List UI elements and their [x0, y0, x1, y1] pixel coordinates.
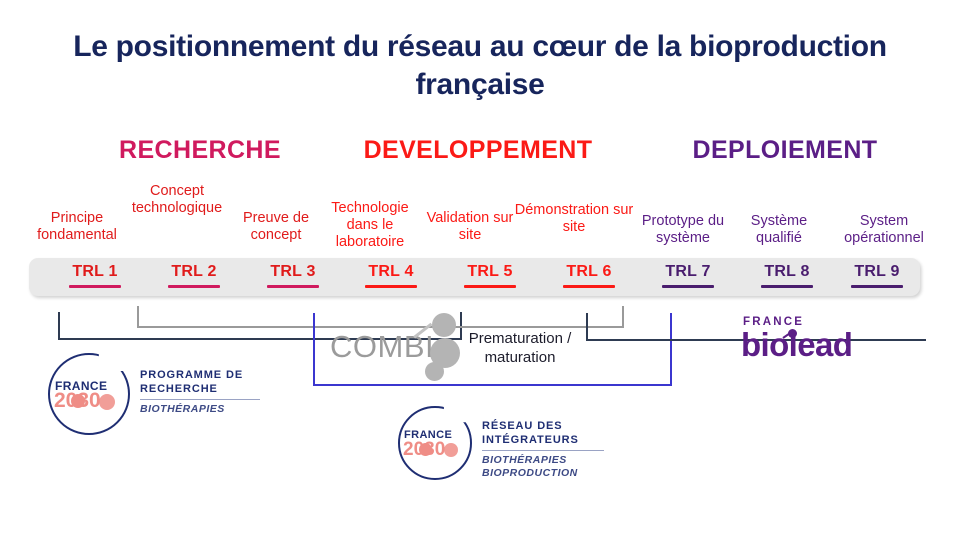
biolead-node-icon [788, 329, 797, 338]
stage-header-developpement: DEVELOPPEMENT [352, 136, 604, 165]
france2030-mark-icon: FRANCE 2030 [398, 406, 472, 480]
combine-logo: COMBI [330, 312, 470, 384]
trl-cell-9[interactable]: TRL 9 [829, 258, 925, 288]
trl-cell-3[interactable]: TRL 3 [245, 258, 341, 288]
trl-code-5: TRL 5 [442, 258, 538, 283]
reseau-integrateurs-title: RÉSEAU DES INTÉGRATEURS [482, 420, 604, 447]
prematuration-label: Prematuration / maturation [450, 329, 590, 367]
trl-underline-6 [563, 285, 615, 288]
trl-code-2: TRL 2 [146, 258, 242, 283]
trl-underline-1 [69, 285, 121, 288]
slide-canvas: Le positionnement du réseau au cœur de l… [0, 0, 960, 540]
combine-node-bottom-icon [425, 362, 444, 381]
page-title: Le positionnement du réseau au cœur de l… [0, 28, 960, 104]
trl-cell-2[interactable]: TRL 2 [146, 258, 242, 288]
trl-desc-2: Concept technologique [119, 183, 235, 217]
trl-underline-3 [267, 285, 319, 288]
logo-divider [482, 450, 604, 451]
programme-recherche-title: PROGRAMME DE RECHERCHE [140, 369, 260, 396]
trl-desc-9: System opérationnel [824, 213, 944, 247]
trl-code-7: TRL 7 [640, 258, 736, 283]
trl-cell-7[interactable]: TRL 7 [640, 258, 736, 288]
france2030-mark-icon: FRANCE 2030 [48, 353, 130, 435]
trl-desc-4: Technologie dans le laboratoire [318, 200, 422, 251]
trl-desc-3: Preuve de concept [228, 210, 324, 244]
trl-desc-7: Prototype du système [629, 213, 737, 247]
trl-code-3: TRL 3 [245, 258, 341, 283]
logo-divider [140, 399, 260, 400]
trl-cell-5[interactable]: TRL 5 [442, 258, 538, 288]
trl-code-1: TRL 1 [47, 258, 143, 283]
trl-code-6: TRL 6 [541, 258, 637, 283]
reseau-integrateurs-subtitle: BIOTHÉRAPIES BIOPRODUCTION [482, 454, 604, 480]
trl-underline-2 [168, 285, 220, 288]
logo-france2030-programme-recherche: FRANCE 2030 PROGRAMME DE RECHERCHE BIOTH… [48, 353, 263, 437]
programme-recherche-subtitle: BIOTHÉRAPIES [140, 403, 260, 416]
trl-desc-6: Démonstration sur site [512, 202, 636, 236]
trl-desc-5: Validation sur site [424, 210, 516, 244]
trl-cell-8[interactable]: TRL 8 [739, 258, 835, 288]
trl-desc-8: Système qualifié [733, 213, 825, 247]
trl-underline-9 [851, 285, 903, 288]
stage-header-recherche: RECHERCHE [110, 136, 290, 165]
trl-underline-8 [761, 285, 813, 288]
trl-code-4: TRL 4 [343, 258, 439, 283]
trl-scale-bar: TRL 1 TRL 2 TRL 3 TRL 4 TRL 5 TRL 6 TRL … [29, 258, 920, 296]
combine-node-top-icon [432, 313, 456, 337]
trl-underline-7 [662, 285, 714, 288]
logo-france2030-reseau-integrateurs: FRANCE 2030 RÉSEAU DES INTÉGRATEURS BIOT… [398, 406, 613, 490]
trl-code-8: TRL 8 [739, 258, 835, 283]
trl-underline-5 [464, 285, 516, 288]
trl-code-9: TRL 9 [829, 258, 925, 283]
trl-cell-4[interactable]: TRL 4 [343, 258, 439, 288]
trl-underline-4 [365, 285, 417, 288]
logo-france-biolead: FRANCE biolead [741, 316, 901, 368]
trl-cell-1[interactable]: TRL 1 [47, 258, 143, 288]
trl-cell-6[interactable]: TRL 6 [541, 258, 637, 288]
trl-desc-1: Principe fondamental [22, 210, 132, 244]
stage-header-deploiement: DEPLOIEMENT [682, 136, 888, 165]
